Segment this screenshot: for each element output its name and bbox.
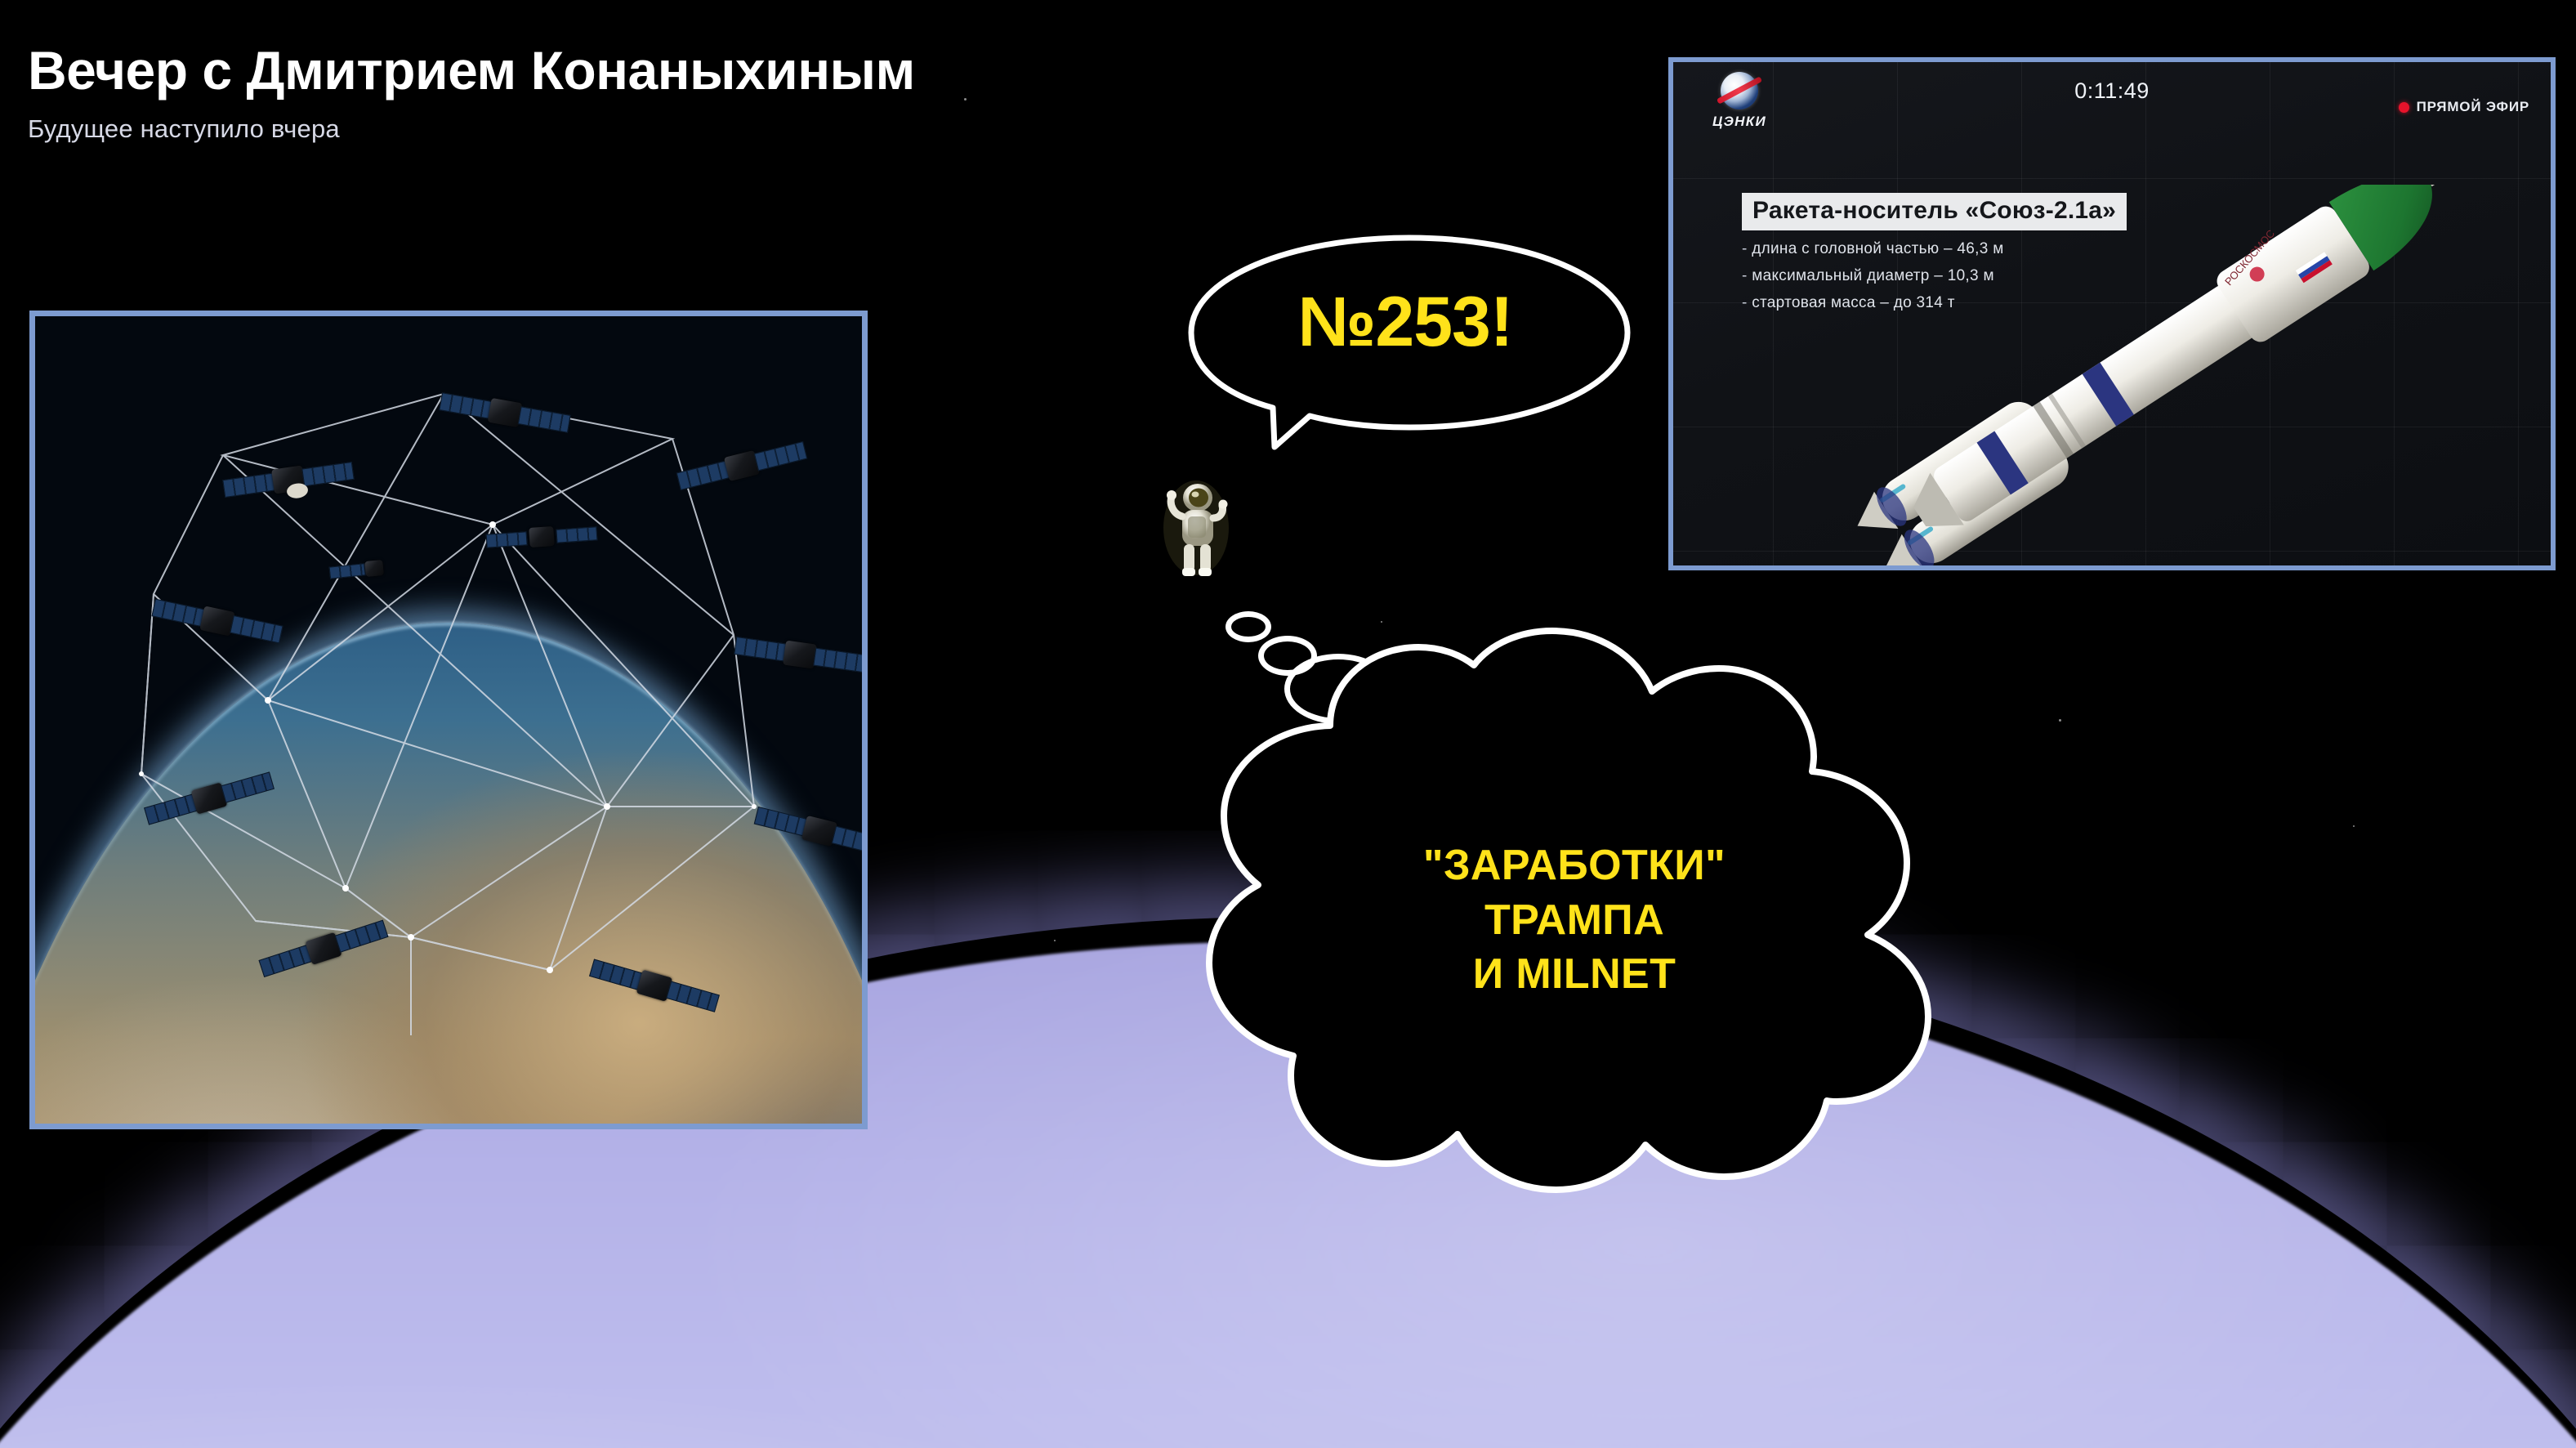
rocket-caption: Ракета-носитель «Союз-2.1а» длина с голо… (1742, 193, 2127, 321)
thought-line-1: "ЗАРАБОТКИ" (1170, 838, 1979, 893)
solar-panel-icon (754, 441, 807, 471)
star-icon (2353, 825, 2355, 827)
solar-panel-icon (666, 981, 720, 1012)
solar-panel-icon (329, 563, 366, 579)
broadcast-video-panel[interactable]: ЦЭНКИ 0:11:49 ПРЯМОЙ ЭФИР (1668, 57, 2556, 570)
solar-panel-icon (334, 920, 388, 953)
solar-panel-icon (221, 771, 275, 802)
live-label: ПРЯМОЙ ЭФИР (2417, 99, 2529, 115)
solar-panel-icon (832, 826, 868, 856)
solar-panel-icon (301, 462, 354, 486)
satellite-image (35, 316, 862, 1124)
speech-bubble: №253! (1176, 233, 1634, 449)
solar-panel-icon (813, 648, 865, 673)
solar-panel-icon (439, 392, 492, 418)
show-header: Вечер с Дмитрием Конаныхиным Будущее нас… (28, 42, 915, 144)
solar-panel-icon (222, 473, 275, 498)
rocket-caption-title: Ракета-носитель «Союз-2.1а» (1742, 193, 2127, 230)
solar-panel-icon (258, 945, 312, 977)
thought-cloud-text: "ЗАРАБОТКИ" ТРАМПА И MILNET (1170, 838, 1979, 1002)
broadcast-video-surface: ЦЭНКИ 0:11:49 ПРЯМОЙ ЭФИР (1673, 62, 2551, 565)
thought-line-2: ТРАМПА (1170, 893, 1979, 948)
solar-panel-icon (486, 531, 528, 547)
solar-panel-icon (734, 637, 786, 661)
solar-panel-icon (556, 526, 597, 543)
solar-panel-icon (676, 461, 730, 490)
rocket-spec-item: стартовая масса – до 314 т (1742, 294, 2127, 312)
star-icon (1054, 940, 1056, 941)
star-icon (1381, 621, 1382, 623)
astronaut-icon (1155, 477, 1237, 579)
satellite-bus-icon (364, 560, 384, 577)
broadcaster-name: ЦЭНКИ (1694, 114, 1784, 130)
star-icon (964, 98, 967, 101)
star-icon (2059, 719, 2061, 722)
satellite-constellation-panel (29, 311, 868, 1129)
solar-panel-icon (230, 615, 283, 643)
live-indicator: ПРЯМОЙ ЭФИР (2399, 99, 2529, 115)
satellite-bus-icon (783, 641, 817, 669)
rocket-spec-item: длина с головной частью – 46,3 м (1742, 240, 2127, 258)
thought-line-3: И MILNET (1170, 947, 1979, 1002)
solar-panel-icon (754, 807, 807, 836)
satellite-link-network (35, 316, 862, 1124)
satellite-bus-icon (529, 526, 555, 547)
rocket-spec-item: максимальный диаметр – 10,3 м (1742, 267, 2127, 285)
solar-panel-icon (144, 793, 198, 825)
thought-cloud: "ЗАРАБОТКИ" ТРАМПА И MILNET (1170, 629, 1979, 1193)
solar-panel-icon (589, 959, 643, 990)
page-title: Вечер с Дмитрием Конаныхиным (28, 42, 915, 100)
solar-panel-icon (151, 599, 204, 627)
live-dot-icon (2399, 102, 2409, 113)
rocket-spec-list: длина с головной частью – 46,3 м максима… (1742, 240, 2127, 312)
page-subtitle: Будущее наступило вчера (28, 114, 915, 144)
speech-bubble-text: №253! (1176, 287, 1634, 357)
solar-panel-icon (518, 406, 571, 432)
satellite-icon (483, 512, 600, 561)
slide-canvas: Вечер с Дмитрием Конаныхиным Будущее нас… (0, 0, 2576, 1448)
